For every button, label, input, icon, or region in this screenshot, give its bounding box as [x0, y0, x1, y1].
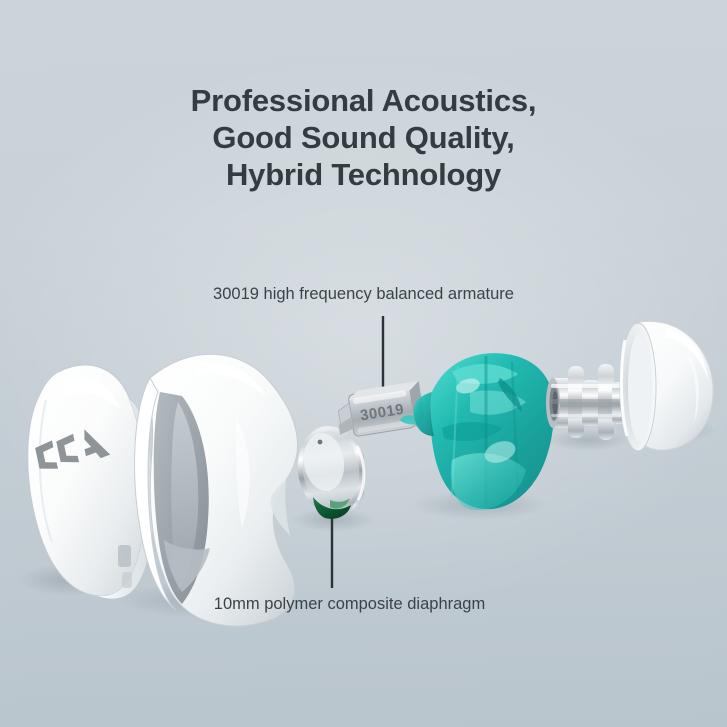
- component-balanced-armature: 30019: [334, 381, 426, 439]
- component-inner-shell: [135, 354, 298, 626]
- headline-line-2: Good Sound Quality,: [0, 119, 727, 156]
- annotation-diaphragm: 10mm polymer composite diaphragm: [0, 594, 727, 614]
- component-eartip: [620, 321, 713, 451]
- page-title: Professional Acoustics, Good Sound Quali…: [0, 82, 727, 193]
- annotation-balanced-armature: 30019 high frequency balanced armature: [0, 284, 727, 304]
- headline-line-1: Professional Acoustics,: [0, 82, 727, 119]
- headline-line-3: Hybrid Technology: [0, 156, 727, 193]
- product-marketing-image: Professional Acoustics, Good Sound Quali…: [0, 0, 727, 727]
- component-acoustic-housing: [400, 353, 558, 510]
- component-nozzle: [546, 364, 626, 440]
